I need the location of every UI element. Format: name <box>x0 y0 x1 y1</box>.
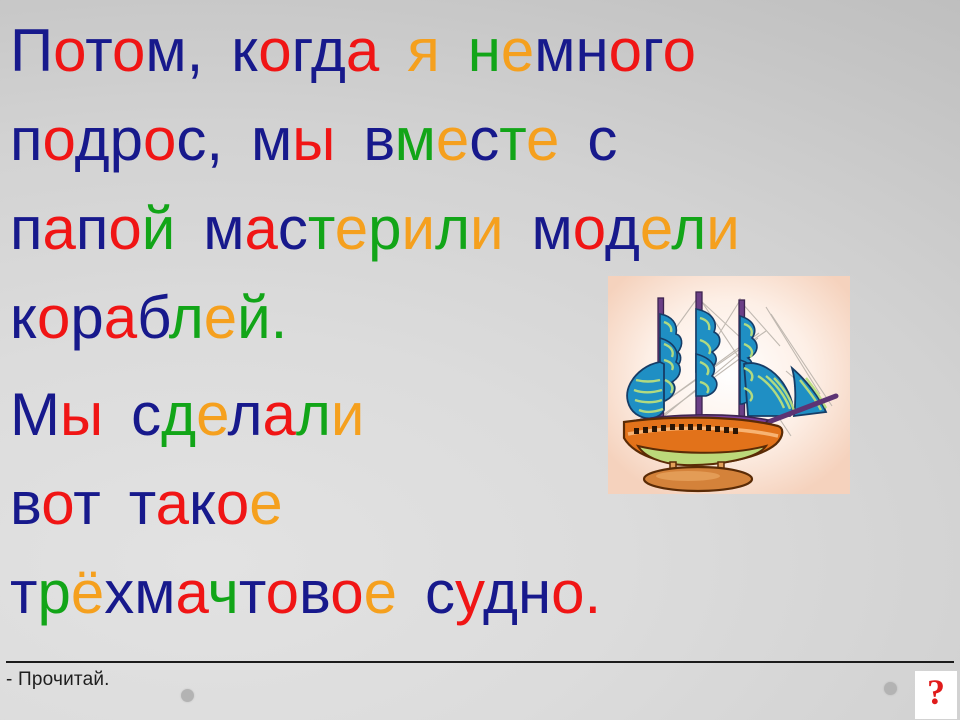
letter: т <box>73 470 100 537</box>
word: папой <box>10 184 175 273</box>
letter: ы <box>292 106 335 173</box>
letter: т <box>239 559 266 626</box>
footer-divider <box>6 661 954 663</box>
word: судно. <box>425 548 601 637</box>
letter: н <box>468 17 501 84</box>
letter: с <box>131 381 161 448</box>
letter: о <box>266 559 299 626</box>
letter: т <box>10 559 37 626</box>
letter: к <box>231 17 258 84</box>
letter: р <box>110 106 143 173</box>
letter: р <box>70 284 103 351</box>
letter: и <box>331 381 365 448</box>
letter: ё <box>71 559 104 626</box>
letter: с <box>587 106 617 173</box>
letter: м <box>134 559 175 626</box>
letter: т <box>499 106 526 173</box>
letter: п <box>76 195 109 262</box>
letter: о <box>41 470 73 537</box>
letter: м <box>203 195 244 262</box>
letter: д <box>483 559 518 626</box>
letter: я <box>407 17 440 84</box>
letter: е <box>196 381 227 448</box>
letter: р <box>368 195 401 262</box>
letter: н <box>575 17 608 84</box>
letter: в <box>299 559 330 626</box>
word: подрос, <box>10 95 223 184</box>
letter: й <box>237 284 271 351</box>
footer-note: - Прочитай. <box>6 669 110 691</box>
word: Мы <box>10 370 103 459</box>
word: когда <box>231 6 379 95</box>
letter: . <box>585 559 602 626</box>
help-button[interactable]: ? <box>915 671 957 719</box>
letter: , <box>187 17 204 84</box>
letter: о <box>143 106 176 173</box>
letter: п <box>10 195 43 262</box>
letter: П <box>10 17 53 84</box>
letter: н <box>518 559 551 626</box>
letter: д <box>161 381 196 448</box>
question-mark-icon: ? <box>919 675 953 715</box>
letter: о <box>216 470 249 537</box>
letter: о <box>609 17 642 84</box>
slide-canvas: Потом,когдаянемногоподрос,мывместеспапой… <box>0 0 960 720</box>
letter: о <box>53 17 85 84</box>
letter: с <box>278 195 308 262</box>
letter: М <box>10 381 60 448</box>
letter: е <box>526 106 559 173</box>
letter: о <box>330 559 363 626</box>
decorative-dot-left <box>181 689 194 702</box>
letter: . <box>271 284 288 351</box>
letter: о <box>663 17 696 84</box>
letter: в <box>363 106 394 173</box>
letter: м <box>251 106 292 173</box>
word: вместе <box>363 95 559 184</box>
text-line: Потом,когдаянемного <box>10 6 952 95</box>
letter: с <box>425 559 455 626</box>
letter: в <box>10 470 41 537</box>
letter: о <box>108 195 141 262</box>
word: Потом, <box>10 6 203 95</box>
letter: м <box>395 106 436 173</box>
letter: е <box>364 559 397 626</box>
letter: д <box>75 106 110 173</box>
word: с <box>587 95 617 184</box>
text-line: папоймастерилимодели <box>10 184 952 273</box>
word: такое <box>129 459 283 548</box>
letter: к <box>189 470 216 537</box>
letter: е <box>501 17 534 84</box>
letter: а <box>156 470 189 537</box>
letter: р <box>37 559 70 626</box>
three-masted-ship-model-image <box>608 276 850 494</box>
letter: п <box>10 106 43 173</box>
letter: м <box>532 195 573 262</box>
letter: б <box>137 284 169 351</box>
letter: л <box>228 381 263 448</box>
text-line: подрос,мывместес <box>10 95 952 184</box>
letter: л <box>671 195 706 262</box>
letter: л <box>296 381 331 448</box>
letter: и <box>706 195 740 262</box>
letter: г <box>642 17 663 84</box>
letter: л <box>169 284 204 351</box>
letter: а <box>104 284 137 351</box>
letter: о <box>112 17 145 84</box>
letter: а <box>43 195 76 262</box>
letter: д <box>311 17 346 84</box>
word: модели <box>532 184 740 273</box>
letter: о <box>37 284 70 351</box>
letter: у <box>455 559 483 626</box>
letter: о <box>573 195 605 262</box>
ship-illustration-svg <box>608 276 850 494</box>
letter: , <box>206 106 223 173</box>
letter: г <box>292 17 311 84</box>
letter: д <box>605 195 640 262</box>
letter: е <box>436 106 469 173</box>
letter: а <box>263 381 296 448</box>
svg-text:?: ? <box>927 675 945 712</box>
letter: о <box>551 559 584 626</box>
letter: е <box>335 195 368 262</box>
letter: м <box>145 17 186 84</box>
word: кораблей. <box>10 273 287 362</box>
letter: к <box>10 284 37 351</box>
letter: е <box>204 284 237 351</box>
decorative-dot-right <box>884 682 897 695</box>
letter: о <box>43 106 75 173</box>
word: трёхмачтовое <box>10 548 397 637</box>
letter: а <box>175 559 207 626</box>
word: вот <box>10 459 101 548</box>
word: мастерили <box>203 184 503 273</box>
letter: а <box>245 195 278 262</box>
letter: е <box>640 195 671 262</box>
letter: м <box>534 17 575 84</box>
letter: т <box>308 195 335 262</box>
word: мы <box>251 95 335 184</box>
letter: ч <box>208 559 239 626</box>
letter: с <box>469 106 499 173</box>
letter: й <box>142 195 176 262</box>
letter: е <box>249 470 282 537</box>
letter: х <box>104 559 134 626</box>
word: я <box>407 6 440 95</box>
word: немного <box>468 6 696 95</box>
letter: ы <box>60 381 103 448</box>
word: сделали <box>131 370 364 459</box>
letter: л <box>435 195 470 262</box>
text-line: трёхмачтовоесудно. <box>10 548 952 637</box>
letter: т <box>129 470 156 537</box>
letter: т <box>85 17 112 84</box>
letter: о <box>258 17 291 84</box>
letter: а <box>346 17 379 84</box>
letter: и <box>401 195 435 262</box>
letter: и <box>470 195 504 262</box>
letter: с <box>176 106 206 173</box>
